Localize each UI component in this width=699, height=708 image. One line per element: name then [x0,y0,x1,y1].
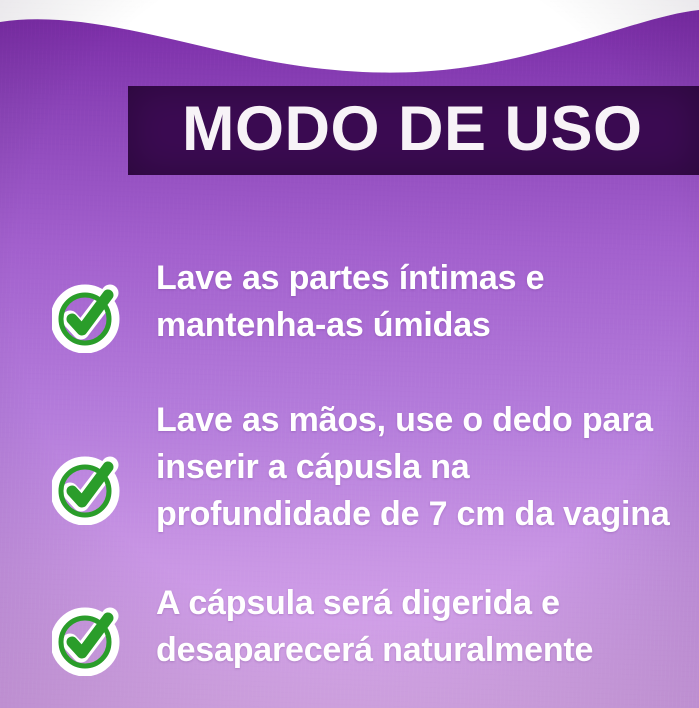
title-banner: MODO DE USO [128,86,699,175]
check-circle-icon [52,281,124,353]
check-circle-icon [52,604,124,676]
list-item-label: Lave as partes íntimas e mantenha-as úmi… [156,255,675,349]
list-item: Lave as partes íntimas e mantenha-as úmi… [0,255,699,353]
list-item-label: A cápsula será digerida e desaparecerá n… [156,580,675,674]
poster-root: MODO DE USO Lave as partes íntimas e man… [0,0,699,708]
check-circle-icon [52,453,124,525]
list-item: A cápsula será digerida e desaparecerá n… [0,580,699,676]
list-item-label: Lave as mãos, use o dedo para inserir a … [156,397,675,538]
steps-list: Lave as partes íntimas e mantenha-as úmi… [0,255,699,708]
list-item: Lave as mãos, use o dedo para inserir a … [0,397,699,538]
page-title: MODO DE USO [182,98,643,161]
